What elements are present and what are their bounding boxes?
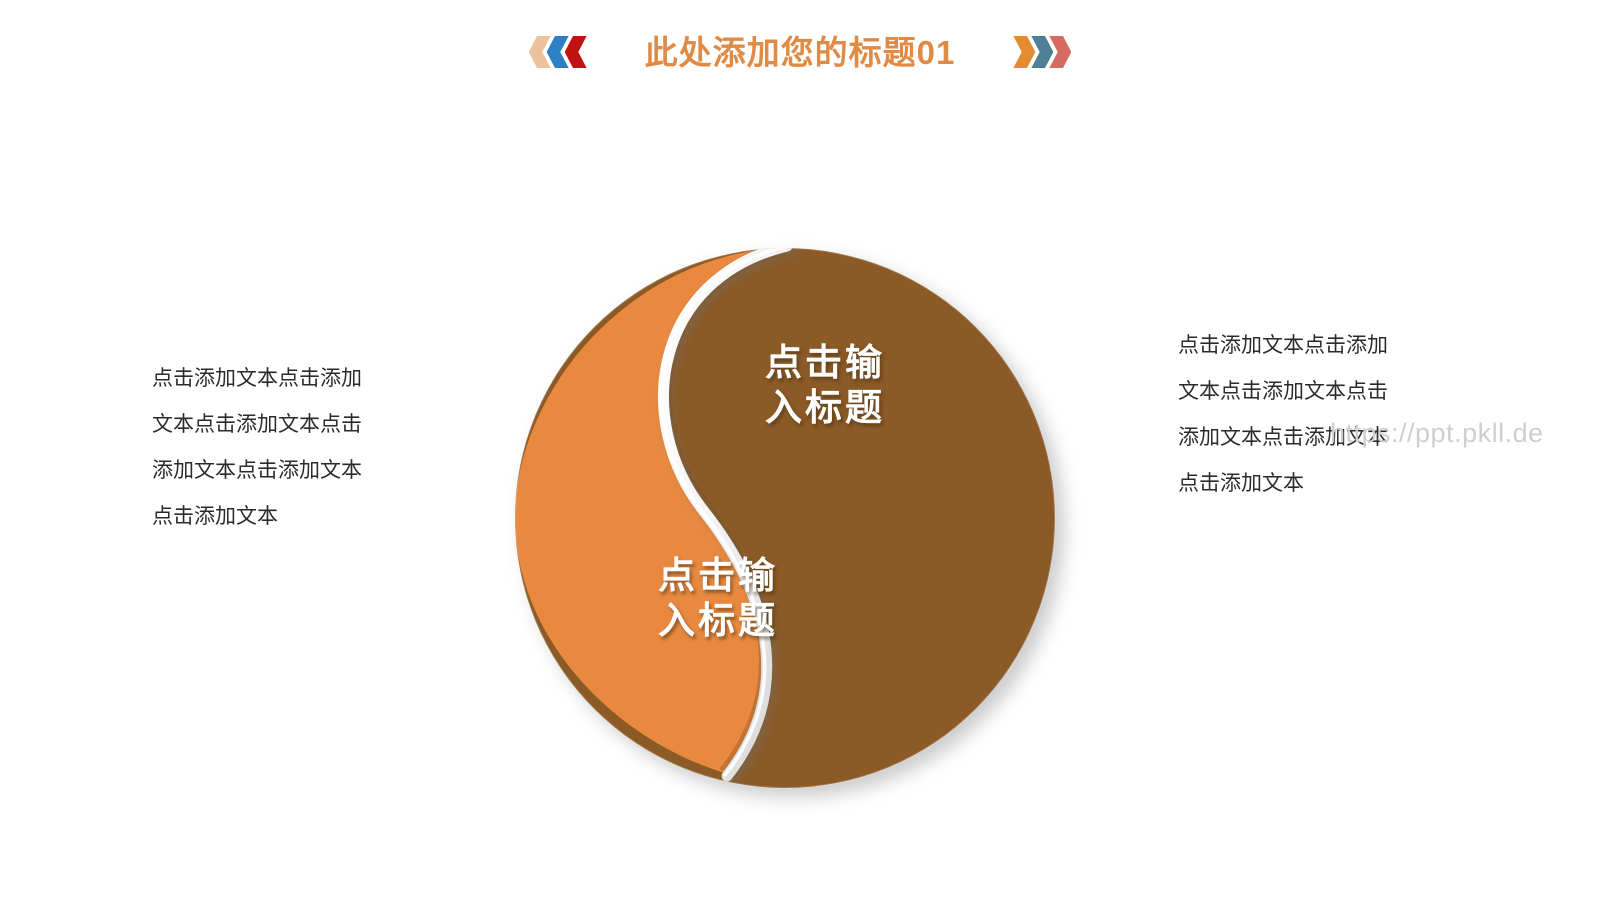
right-text-line-4: 点击添加文本 <box>1178 461 1388 507</box>
left-text-block: 点击添加文本点击添加 文本点击添加文本点击 添加文本点击添加文本 点击添加文本 <box>152 356 362 540</box>
left-text-line-2: 文本点击添加文本点击 <box>152 402 362 448</box>
right-text-line-3: 添加文本点击添加文本 <box>1178 415 1388 461</box>
left-text-line-4: 点击添加文本 <box>152 494 362 540</box>
right-text-line-1: 点击添加文本点击添加 <box>1178 323 1388 369</box>
header: 此处添加您的标题01 <box>0 22 1600 82</box>
chevron-right-orange <box>1013 36 1035 68</box>
right-text-block: 点击添加文本点击添加 文本点击添加文本点击 添加文本点击添加文本 点击添加文本 <box>1178 323 1388 507</box>
left-text-line-1: 点击添加文本点击添加 <box>152 356 362 402</box>
right-chevron-group <box>1013 35 1071 69</box>
yin-yang-svg <box>495 228 1095 828</box>
page-title: 此处添加您的标题01 <box>645 36 956 69</box>
yin-yang-diagram[interactable]: 点击输 入标题 点击输 入标题 <box>495 228 1095 828</box>
left-chevron-group <box>529 35 587 69</box>
chevron-left-red <box>565 36 587 68</box>
left-text-line-3: 添加文本点击添加文本 <box>152 448 362 494</box>
right-text-line-2: 文本点击添加文本点击 <box>1178 369 1388 415</box>
